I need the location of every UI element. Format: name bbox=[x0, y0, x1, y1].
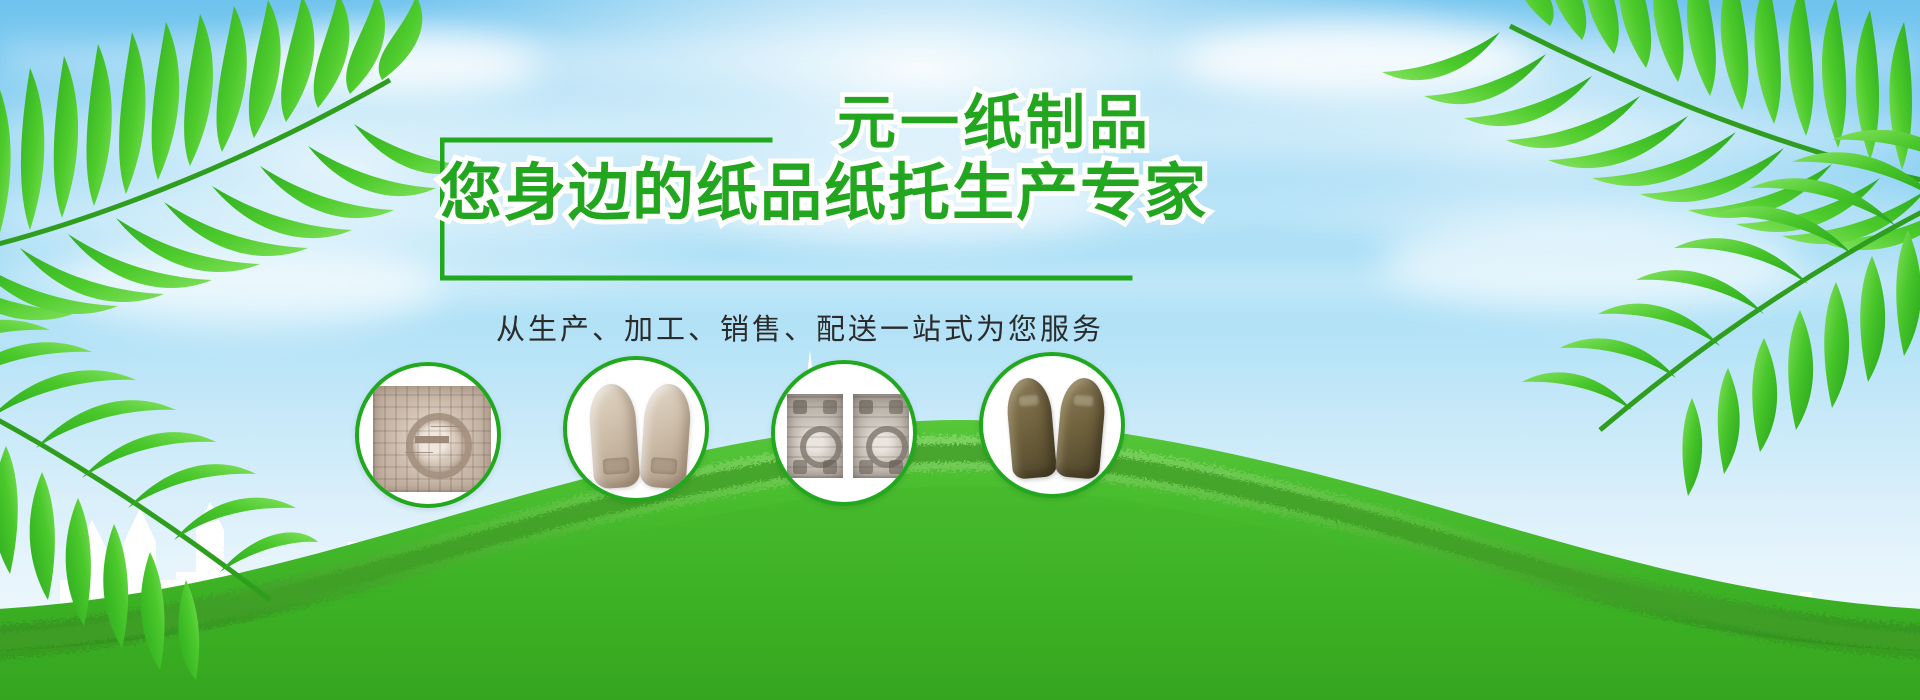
palm-leaf-icon bbox=[1430, 130, 1920, 500]
product-circle-gray-pulp-packaging-tray[interactable] bbox=[771, 360, 917, 506]
product-image-square-pulp-tray bbox=[359, 366, 497, 504]
product-circle-square-pulp-tray[interactable] bbox=[355, 362, 501, 508]
title-group: 元一纸制品 您身边的纸品纸托生产专家 bbox=[440, 78, 1160, 228]
product-image-paper-shoe-form bbox=[567, 360, 705, 498]
product-circle-paper-shoe-form[interactable] bbox=[563, 356, 709, 502]
product-circle-row bbox=[355, 352, 1185, 522]
headline-text: 您身边的纸品纸托生产专家 bbox=[440, 158, 1160, 228]
promotional-banner: 元一纸制品 您身边的纸品纸托生产专家 从生产、加工、销售、配送一站式为您服务 bbox=[0, 0, 1920, 700]
brand-title: 元一纸制品 bbox=[440, 92, 1160, 154]
headline-block: 元一纸制品 您身边的纸品纸托生产专家 从生产、加工、销售、配送一站式为您服务 bbox=[440, 78, 1160, 308]
palm-leaf-icon bbox=[0, 300, 320, 680]
subtitle-text: 从生产、加工、销售、配送一站式为您服务 bbox=[440, 306, 1160, 348]
product-circle-dark-pulp-shoe-insert[interactable] bbox=[979, 352, 1125, 498]
product-image-gray-pulp-packaging-tray bbox=[775, 364, 913, 502]
product-image-dark-pulp-shoe-insert bbox=[983, 356, 1121, 494]
